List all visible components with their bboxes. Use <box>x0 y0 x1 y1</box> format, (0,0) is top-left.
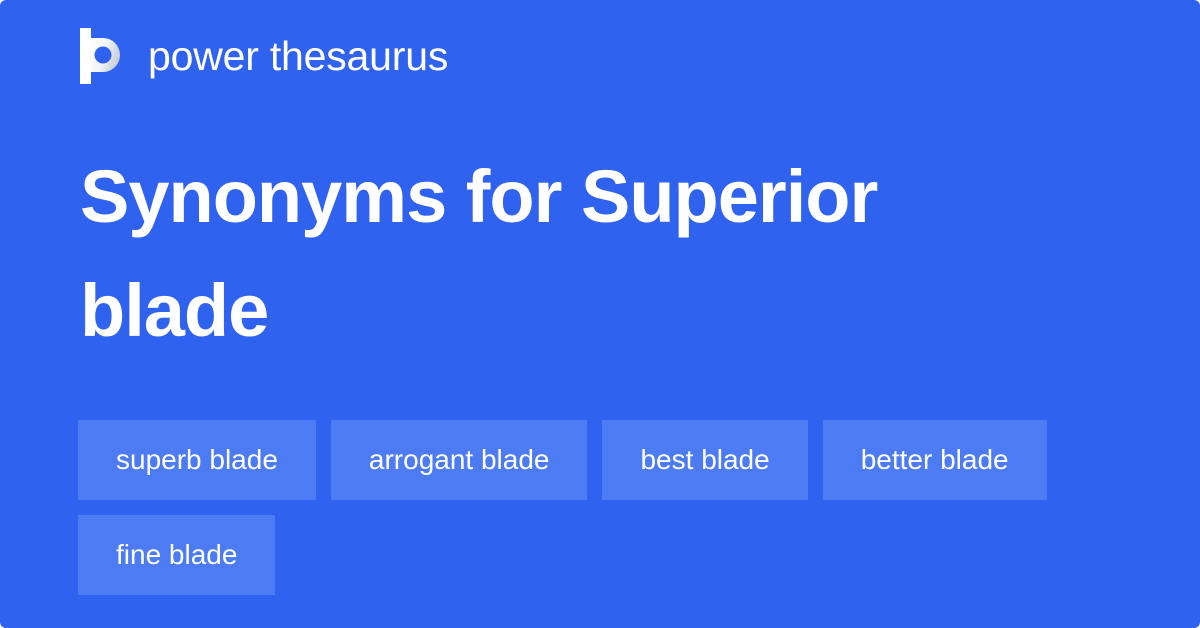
synonym-chip[interactable]: superb blade <box>78 420 316 500</box>
synonym-chip[interactable]: arrogant blade <box>331 420 588 500</box>
page-title: Synonyms for Superior blade <box>80 140 1080 368</box>
synonym-chip[interactable]: better blade <box>823 420 1047 500</box>
brand-logo[interactable]: power thesaurus <box>80 28 448 84</box>
synonym-chip[interactable]: best blade <box>602 420 807 500</box>
power-thesaurus-b-logo-icon <box>80 28 126 84</box>
synonym-chip[interactable]: fine blade <box>78 515 275 595</box>
brand-name: power thesaurus <box>148 36 448 77</box>
share-card: power thesaurus Synonyms for Superior bl… <box>0 0 1200 628</box>
synonym-chip-list: superb blade arrogant blade best blade b… <box>78 420 1078 595</box>
